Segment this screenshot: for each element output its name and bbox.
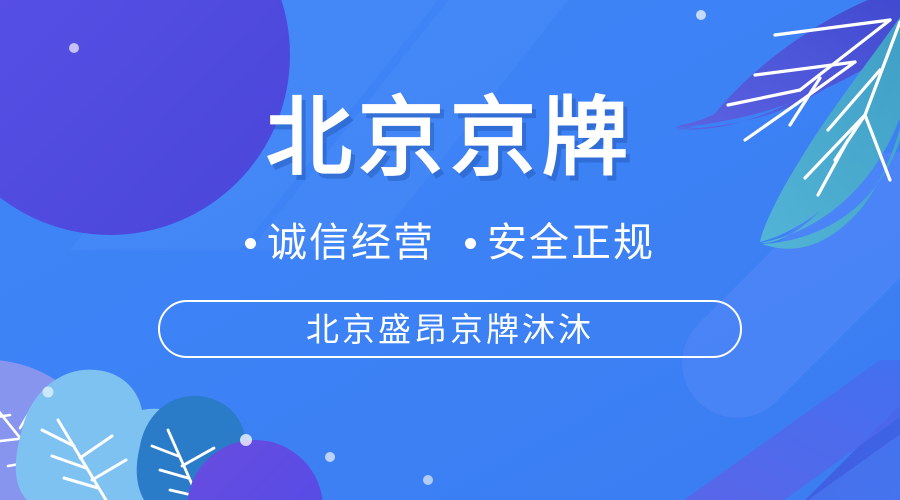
promo-banner: 北京京牌 诚信经营 安全正规 北京盛昂京牌沐沐 [0, 0, 900, 500]
page-title: 北京京牌 [266, 95, 634, 181]
bullet-dot-icon [245, 238, 256, 249]
tagline-label: 北京盛昂京牌沐沐 [306, 313, 594, 346]
subtitle-text-2: 安全正规 [487, 223, 655, 263]
subtitle-item-2: 安全正规 [465, 223, 655, 263]
subtitle-item-1: 诚信经营 [245, 223, 435, 263]
banner-content: 北京京牌 诚信经营 安全正规 北京盛昂京牌沐沐 [0, 0, 900, 500]
subtitle-text-1: 诚信经营 [267, 223, 435, 263]
bullet-dot-icon [465, 238, 476, 249]
subtitle-row: 诚信经营 安全正规 [245, 223, 655, 263]
tagline-pill-button[interactable]: 北京盛昂京牌沐沐 [158, 300, 742, 358]
